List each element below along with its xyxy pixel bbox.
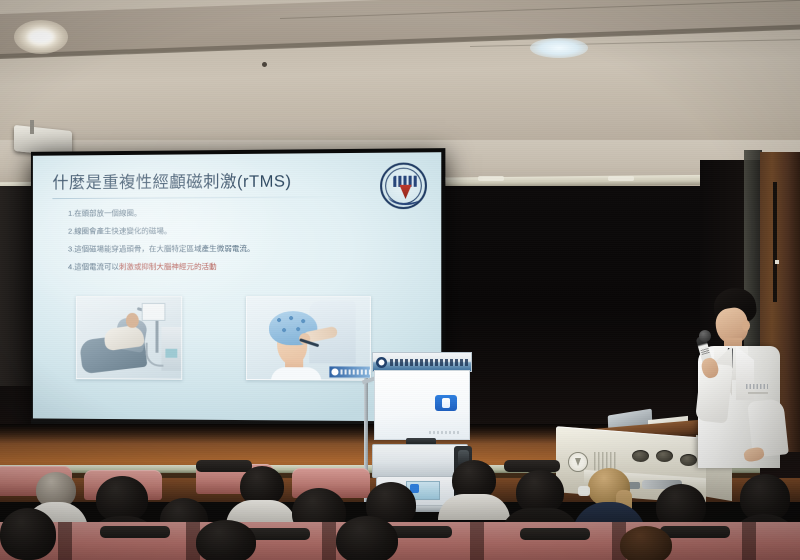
seat-headrest bbox=[520, 528, 590, 540]
ceiling-panel-seam bbox=[470, 39, 800, 47]
seat-headrest bbox=[196, 460, 252, 472]
hospital-emblem-icon bbox=[380, 162, 427, 209]
patient-record-icon bbox=[435, 395, 457, 411]
audience-head bbox=[0, 508, 56, 560]
list-item: 2.線圈會產生快速變化的磁場。 bbox=[68, 226, 425, 235]
microphone-head-icon bbox=[699, 330, 711, 342]
seat-divider bbox=[322, 522, 336, 560]
presenter-ear bbox=[742, 320, 750, 331]
bullet-text: 這個電流可以 bbox=[74, 263, 119, 272]
rail-fixture bbox=[608, 176, 634, 181]
seat-divider bbox=[58, 522, 72, 560]
audience-head bbox=[336, 516, 398, 560]
list-item: 1.在頭部放一個線圈。 bbox=[68, 208, 425, 217]
equipment-cable bbox=[146, 343, 164, 367]
face-mask-icon bbox=[578, 486, 590, 496]
seat-divider bbox=[742, 522, 756, 560]
audience-area bbox=[0, 430, 800, 560]
door-groove bbox=[773, 182, 777, 302]
slide-title-divider bbox=[52, 196, 350, 199]
slide-photo-group bbox=[76, 296, 371, 381]
bullet-text: 線圈會產生快速變化的磁場。 bbox=[74, 226, 171, 235]
audience-shoulders bbox=[438, 494, 510, 520]
door-latch-icon bbox=[775, 260, 779, 264]
cabinet-screen bbox=[165, 349, 177, 358]
list-item: 3.這個磁場能穿過頭骨，在大腦特定區域產生微弱電流。 bbox=[68, 245, 425, 254]
patient-head bbox=[126, 313, 139, 328]
photo-watermark-badge bbox=[329, 366, 370, 377]
audience-head bbox=[196, 520, 256, 560]
audience-head bbox=[620, 526, 672, 560]
fluorescent-panel-icon bbox=[530, 38, 588, 58]
coat-pocket bbox=[748, 392, 768, 394]
cart-banner-logo-icon bbox=[376, 357, 387, 368]
bullet-text: 在頭部放一個線圈。 bbox=[74, 209, 141, 218]
ceiling-sensor-icon bbox=[262, 62, 267, 67]
bullet-text: 這個磁場能穿過頭骨，在大腦特定區域產生微弱電流。 bbox=[74, 244, 254, 253]
lecture-hall-scene: 什麼是重複性經顱磁刺激(rTMS) 1.在頭部放一個線圈。 2.線圈會產生快速變… bbox=[0, 0, 800, 560]
seat-headrest bbox=[100, 526, 170, 538]
emblem-arc bbox=[388, 187, 423, 205]
downlight-left-icon bbox=[14, 20, 68, 54]
ceiling bbox=[0, 0, 800, 152]
cart-banner-text bbox=[390, 359, 468, 366]
slide-title: 什麼是重複性經顱磁刺激(rTMS) bbox=[52, 167, 425, 194]
cart-banner bbox=[372, 352, 472, 372]
bullet-highlight-text: 刺激或抑制大腦神經元的活動 bbox=[119, 262, 217, 271]
rail-fixture bbox=[478, 176, 504, 181]
coat-embroidered-name bbox=[746, 384, 768, 389]
watermark-logo-icon bbox=[331, 368, 338, 375]
treatment-monitor bbox=[142, 303, 166, 321]
slide-photo-tms-cap bbox=[246, 296, 371, 381]
patient-gown bbox=[271, 367, 321, 381]
slide-photo-treatment-chair bbox=[76, 296, 182, 380]
slide-bullet-list: 1.在頭部放一個線圈。 2.線圈會產生快速變化的磁場。 3.這個磁場能穿過頭骨，… bbox=[52, 208, 425, 271]
seat-divider bbox=[470, 522, 484, 560]
list-item: 4.這個電流可以刺激或抑制大腦神經元的活動 bbox=[68, 263, 425, 271]
seat-headrest bbox=[660, 526, 730, 538]
projector-mount bbox=[30, 120, 34, 134]
